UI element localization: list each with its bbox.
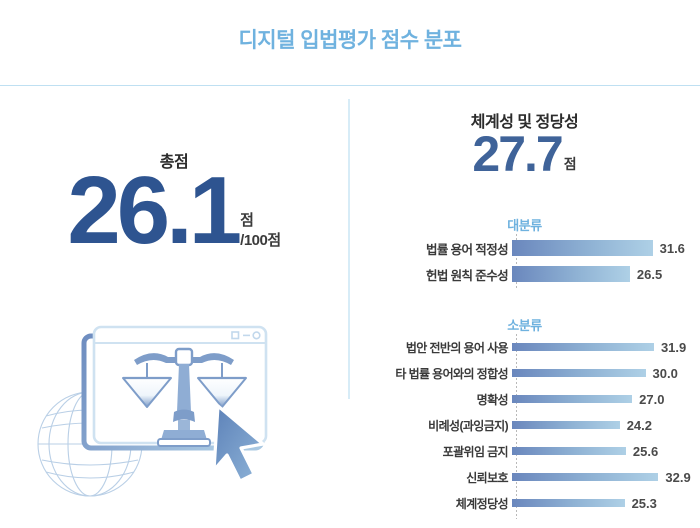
bar-value: 32.9 xyxy=(665,470,690,485)
bar-label: 비례성(과잉금지) xyxy=(349,417,512,434)
minor-group-heading: 소분류 xyxy=(349,315,700,334)
section-score-value: 27.7 xyxy=(472,132,561,177)
page-title: 디지털 입법평가 점수 분포 xyxy=(0,24,700,54)
bar-label: 신뢰보호 xyxy=(349,469,512,486)
bar-fill xyxy=(512,421,620,429)
total-score-unit: 점 xyxy=(240,213,254,230)
bar-value: 25.6 xyxy=(633,444,658,459)
total-score-denominator: /100점 xyxy=(240,230,281,251)
bar-label: 법률 용어 적정성 xyxy=(349,239,512,258)
major-group-heading: 대분류 xyxy=(349,215,700,234)
bar-track: 31.9 xyxy=(512,340,700,355)
bar-fill xyxy=(512,343,654,351)
category-breakdown-panel: 체계성 및 정당성 27.7 점 대분류 법률 용어 적정성31.6헌법 원칙 … xyxy=(349,86,700,528)
bar-row: 체계정당성25.3 xyxy=(349,494,700,512)
bar-label: 명확성 xyxy=(349,391,512,408)
bar-row: 신뢰보호32.9 xyxy=(349,468,700,486)
bar-value: 31.6 xyxy=(660,241,685,256)
bar-fill xyxy=(512,499,625,507)
bar-fill xyxy=(512,266,630,282)
section-score-row: 27.7 점 xyxy=(349,132,700,177)
infographic-page: 디지털 입법평가 점수 분포 총점 26.1 점 /100점 xyxy=(0,0,700,528)
bar-track: 31.6 xyxy=(512,240,700,256)
total-score-value: 26.1 xyxy=(67,170,238,253)
bar-track: 24.2 xyxy=(512,418,700,433)
bar-fill xyxy=(512,447,626,455)
bar-track: 27.0 xyxy=(512,392,700,407)
bar-value: 31.9 xyxy=(661,340,686,355)
bar-fill xyxy=(512,473,658,481)
bar-track: 25.3 xyxy=(512,496,700,511)
total-score-panel: 총점 26.1 점 /100점 xyxy=(0,86,348,528)
bar-value: 30.0 xyxy=(653,366,678,381)
bar-row: 명확성27.0 xyxy=(349,390,700,408)
bar-label: 법안 전반의 용어 사용 xyxy=(349,339,512,356)
bar-row: 포괄위임 금지25.6 xyxy=(349,442,700,460)
bar-fill xyxy=(512,395,632,403)
digital-legislation-illustration xyxy=(28,324,320,514)
bar-row: 비례성(과잉금지)24.2 xyxy=(349,416,700,434)
bar-track: 32.9 xyxy=(512,470,700,485)
bar-row: 헌법 원칙 준수성26.5 xyxy=(349,264,700,284)
bar-fill xyxy=(512,369,646,377)
bar-value: 24.2 xyxy=(627,418,652,433)
bar-label: 타 법률 용어와의 정합성 xyxy=(349,365,512,382)
bar-value: 25.3 xyxy=(632,496,657,511)
bar-label: 헌법 원칙 준수성 xyxy=(349,265,512,284)
bar-track: 30.0 xyxy=(512,366,700,381)
section-score-unit: 점 xyxy=(564,154,577,177)
bar-row: 타 법률 용어와의 정합성30.0 xyxy=(349,364,700,382)
bar-track: 26.5 xyxy=(512,266,700,282)
bar-row: 법안 전반의 용어 사용31.9 xyxy=(349,338,700,356)
bar-label: 포괄위임 금지 xyxy=(349,443,512,460)
bar-fill xyxy=(512,240,653,256)
bar-row: 법률 용어 적정성31.6 xyxy=(349,238,700,258)
bar-track: 25.6 xyxy=(512,444,700,459)
bar-value: 27.0 xyxy=(639,392,664,407)
total-score-unit-group: 점 /100점 xyxy=(240,213,281,253)
bar-label: 체계정당성 xyxy=(349,495,512,512)
bar-value: 26.5 xyxy=(637,267,662,282)
total-score-row: 26.1 점 /100점 xyxy=(0,170,348,253)
